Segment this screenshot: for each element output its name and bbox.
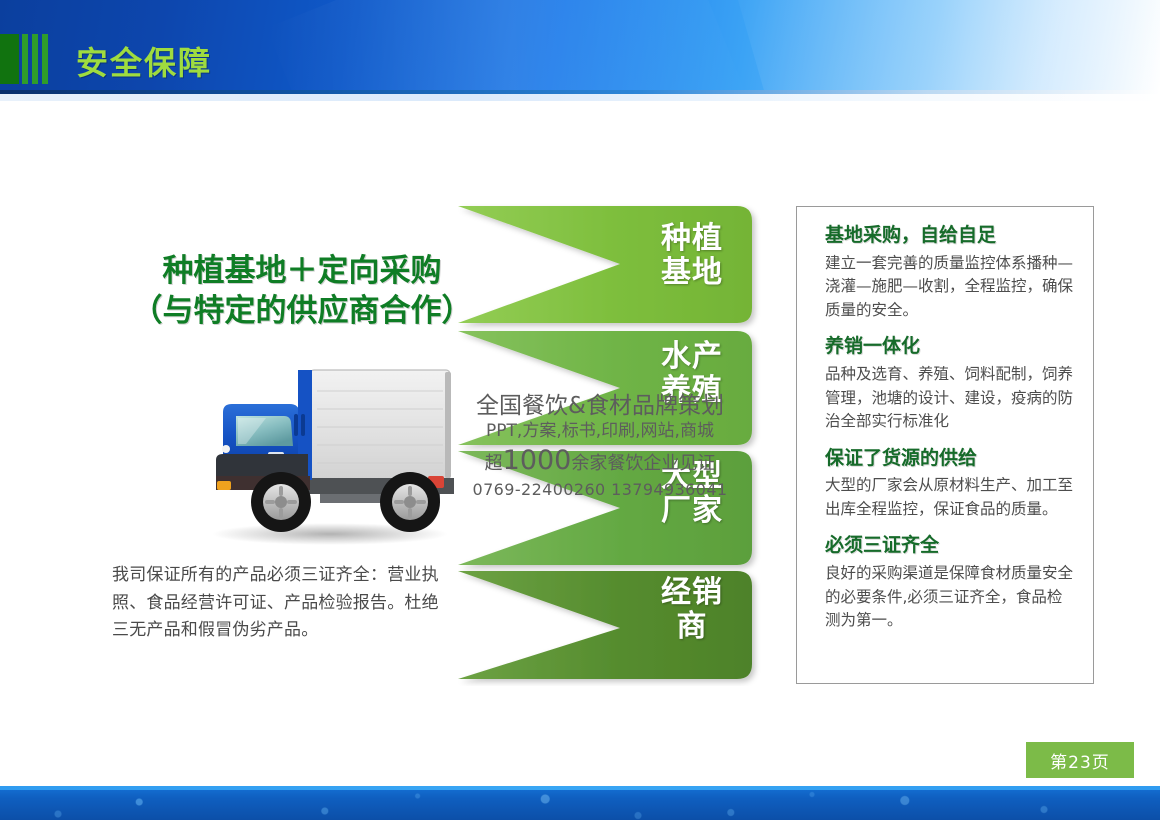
mark-stripe-3 — [42, 34, 48, 84]
chevron-label-1: 种植 基地 — [632, 222, 752, 289]
bars-mark-icon — [0, 34, 62, 84]
left-headline-line1: 种植基地＋定向采购 — [163, 253, 442, 289]
detail-heading-1: 基地采购，自给自足 — [825, 223, 1075, 248]
chevron-label-2: 水产 养殖 — [632, 340, 752, 407]
chevron-label-4-line1: 经销 — [661, 575, 723, 610]
slide-root: 安全保障 种植基地＋定向采购 （与特定的供应商合作） — [0, 0, 1160, 820]
detail-heading-3: 保证了货源的供给 — [825, 446, 1075, 471]
header-underline-soft — [0, 94, 1160, 101]
chevron-label-3-line1: 大型 — [661, 459, 723, 494]
left-headline: 种植基地＋定向采购 （与特定的供应商合作） — [92, 252, 512, 331]
detail-block-1: 基地采购，自给自足 建立一套完善的质量监控体系播种—浇灌—施肥—收割，全程监控，… — [825, 223, 1075, 322]
detail-block-3: 保证了货源的供给 大型的厂家会从原材料生产、加工至出库全程监控，保证食品的质量。 — [825, 446, 1075, 522]
chevron-label-2-line2: 养殖 — [661, 373, 723, 408]
detail-block-4: 必须三证齐全 良好的采购渠道是保障食材质量安全的必要条件,必须三证齐全，食品检测… — [825, 533, 1075, 632]
header-sheen-decoration — [720, 0, 1160, 90]
detail-heading-4: 必须三证齐全 — [825, 533, 1075, 558]
detail-body-1: 建立一套完善的质量监控体系播种—浇灌—施肥—收割，全程监控，确保质量的安全。 — [825, 252, 1075, 323]
page-number-badge: 第23页 — [1026, 742, 1134, 778]
left-caption-text: 我司保证所有的产品必须三证齐全：营业执照、食品经营许可证、产品检验报告。杜绝三无… — [112, 562, 442, 645]
chevron-label-3: 大型 厂家 — [632, 460, 752, 527]
chevron-stack: 种植 基地 水产 养殖 大型 厂家 经销 商 — [452, 198, 772, 686]
header-sheen-decoration-2 — [267, 0, 754, 90]
slide-footer — [0, 786, 1160, 820]
detail-body-2: 品种及选育、养殖、饲料配制，饲养管理，池塘的设计、建设，疫病的防治全部实行标准化 — [825, 363, 1075, 434]
chevron-label-1-line1: 种植 — [661, 221, 723, 256]
detail-block-2: 养销一体化 品种及选育、养殖、饲料配制，饲养管理，池塘的设计、建设，疫病的防治全… — [825, 334, 1075, 433]
left-headline-line2: （与特定的供应商合作） — [92, 292, 512, 332]
chevron-label-2-line1: 水产 — [661, 339, 723, 374]
detail-body-4: 良好的采购渠道是保障食材质量安全的必要条件,必须三证齐全，食品检测为第一。 — [825, 562, 1075, 633]
chevron-label-4: 经销 商 — [632, 576, 752, 643]
mark-stripe-1 — [22, 34, 28, 84]
detail-heading-2: 养销一体化 — [825, 334, 1075, 359]
slide-header: 安全保障 — [0, 0, 1160, 90]
chevron-label-3-line2: 厂家 — [661, 493, 723, 528]
chevron-label-1-line2: 基地 — [661, 255, 723, 290]
footer-texture — [0, 790, 1160, 820]
delivery-truck-icon — [180, 350, 480, 550]
chevron-label-4-line2: 商 — [677, 609, 708, 644]
mark-stripe-2 — [32, 34, 38, 84]
detail-panel: 基地采购，自给自足 建立一套完善的质量监控体系播种—浇灌—施肥—收割，全程监控，… — [796, 206, 1094, 684]
detail-body-3: 大型的厂家会从原材料生产、加工至出库全程监控，保证食品的质量。 — [825, 474, 1075, 521]
page-title: 安全保障 — [76, 38, 212, 84]
mark-block — [0, 34, 19, 84]
